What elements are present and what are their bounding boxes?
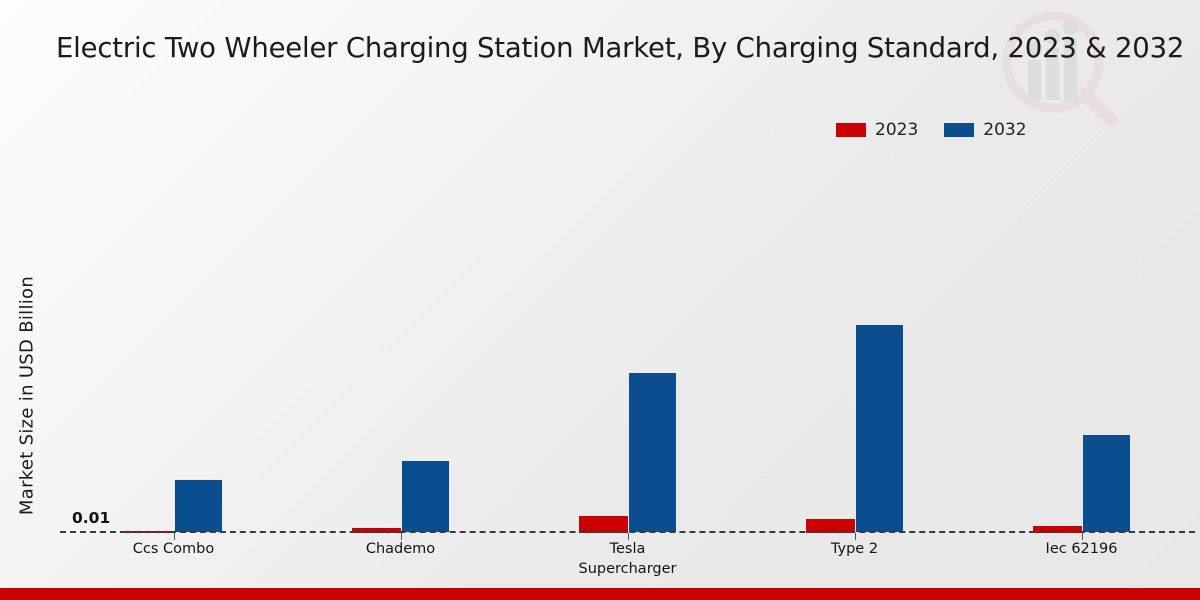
legend-label-2032: 2032	[983, 120, 1026, 140]
chart-title: Electric Two Wheeler Charging Station Ma…	[56, 30, 1200, 66]
x-axis-label-tesla-supercharger: Tesla Supercharger	[514, 540, 741, 579]
watermark-logo-icon	[995, 8, 1125, 130]
x-axis-label-chademo: Chademo	[287, 540, 514, 579]
y-axis-title: Market Size in USD Billion	[17, 236, 38, 556]
bar-2032-iec-62196[interactable]	[1082, 434, 1131, 533]
bars-iec-62196	[968, 160, 1195, 533]
axis-tick-chademo	[401, 533, 402, 540]
x-axis-label-ccs-combo: Ccs Combo	[60, 540, 287, 579]
bar-2032-tesla-supercharger[interactable]	[628, 372, 677, 533]
axis-tick-tesla-supercharger	[628, 533, 629, 540]
bar-2032-ccs-combo[interactable]	[174, 479, 223, 533]
bar-2032-type-2[interactable]	[855, 324, 904, 533]
axis-tick-ccs-combo	[174, 533, 175, 540]
bars-ccs-combo	[60, 160, 287, 533]
axis-tick-iec-62196	[1082, 533, 1083, 540]
chart-canvas: Electric Two Wheeler Charging Station Ma…	[0, 0, 1200, 600]
bar-group-iec-62196	[968, 160, 1195, 533]
legend-item-2032[interactable]: 2032	[944, 120, 1026, 140]
bar-value-2023-ccs-combo: 0.01	[72, 509, 110, 527]
x-axis-labels: Ccs Combo Chademo Tesla Supercharger Typ…	[60, 540, 1195, 579]
bar-group-tesla-supercharger	[514, 160, 741, 533]
bar-group-ccs-combo: 0.01	[60, 160, 287, 533]
x-axis-label-iec-62196: Iec 62196	[968, 540, 1195, 579]
bar-group-type-2	[741, 160, 968, 533]
x-axis-label-type-2: Type 2	[741, 540, 968, 579]
legend-label-2023: 2023	[875, 120, 918, 140]
bar-2032-chademo[interactable]	[401, 460, 450, 533]
chart-legend: 2023 2032	[836, 120, 1027, 140]
bottom-accent-strip	[0, 588, 1200, 600]
legend-item-2023[interactable]: 2023	[836, 120, 918, 140]
plot-area: 0.01	[60, 160, 1195, 533]
legend-swatch-2032	[944, 123, 974, 137]
bar-groups: 0.01	[60, 160, 1195, 533]
bars-tesla-supercharger	[514, 160, 741, 533]
axis-tick-type-2	[855, 533, 856, 540]
bars-chademo	[287, 160, 514, 533]
bar-group-chademo	[287, 160, 514, 533]
bars-type-2	[741, 160, 968, 533]
legend-swatch-2023	[836, 123, 866, 137]
x-axis-baseline	[60, 531, 1195, 533]
